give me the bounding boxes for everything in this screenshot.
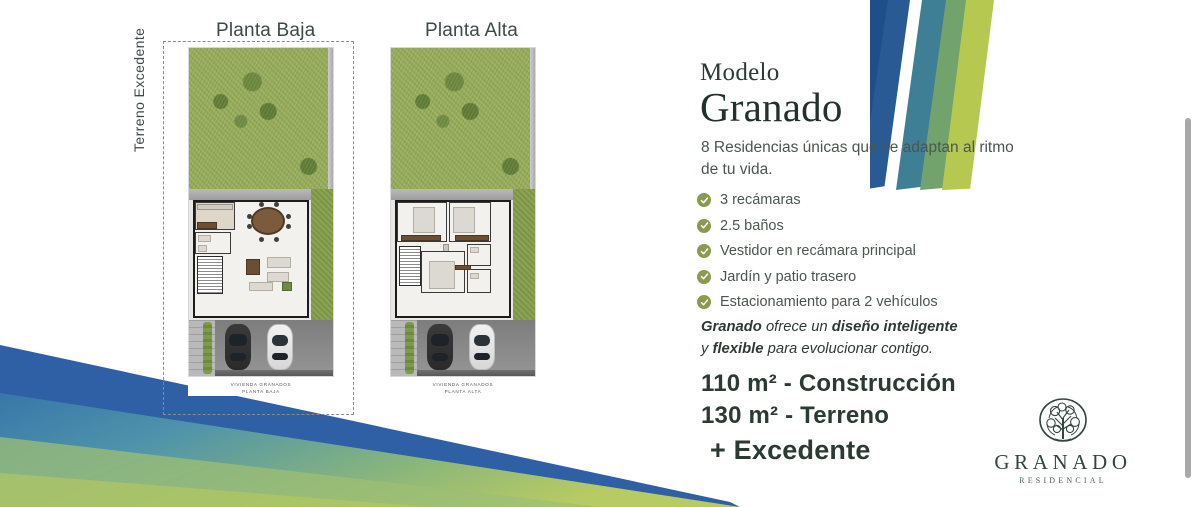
feature-item: 2.5 baños bbox=[697, 218, 938, 234]
garage-floor bbox=[417, 320, 535, 376]
tagline-text-b: y bbox=[701, 341, 713, 357]
car-dark bbox=[225, 324, 251, 370]
hedge-strip bbox=[405, 322, 414, 373]
dining-chair bbox=[286, 214, 291, 219]
garden-wall bbox=[530, 48, 535, 189]
closet-three bbox=[455, 235, 489, 241]
tagline-brand: Granado bbox=[701, 319, 762, 335]
dining-chair bbox=[247, 224, 252, 229]
check-circle-icon bbox=[697, 244, 711, 258]
ground-floor-interior bbox=[189, 189, 333, 320]
tagline-text-c: para evolucionar contigo. bbox=[764, 341, 933, 357]
garden-wall bbox=[328, 48, 333, 189]
staircase bbox=[197, 256, 223, 294]
scrollbar-thumb[interactable] bbox=[1185, 118, 1191, 478]
feature-label: Estacionamiento para 2 vehículos bbox=[720, 294, 938, 310]
car-white bbox=[267, 324, 293, 370]
dining-chair bbox=[274, 237, 279, 242]
car-dark bbox=[427, 324, 453, 370]
spec-excedente: + Excedente bbox=[701, 432, 956, 468]
caption-line-1: VIVIENDA GRANADOS bbox=[188, 382, 334, 389]
floor-plan-planta-baja[interactable]: VIVIENDA GRANADOS PLANTA BAJA bbox=[188, 47, 334, 396]
brand-logo: GRANADO RESIDENCIAL bbox=[963, 396, 1163, 485]
caption-line-2: PLANTA ALTA bbox=[390, 389, 536, 396]
feature-label: 3 recámaras bbox=[720, 192, 801, 208]
garden-area-baja bbox=[189, 48, 333, 189]
feature-item: 3 recámaras bbox=[697, 192, 938, 208]
tagline-emphasis-2: flexible bbox=[713, 341, 764, 357]
dining-chair bbox=[259, 237, 264, 242]
floor-plan-planta-alta[interactable]: VIVIENDA GRANADOS PLANTA ALTA bbox=[390, 47, 536, 396]
terreno-excedente-label: Terreno Excedente bbox=[131, 28, 147, 152]
feature-list: 3 recámaras 2.5 baños Vestidor en recáma… bbox=[697, 192, 938, 320]
car-rear-window bbox=[474, 353, 489, 361]
tree-in-circle-icon bbox=[1035, 396, 1091, 448]
planta-baja-render bbox=[188, 47, 334, 377]
plan-title-planta-baja: Planta Baja bbox=[216, 20, 315, 42]
dining-chair bbox=[247, 214, 252, 219]
caption-line-2: PLANTA BAJA bbox=[188, 389, 334, 396]
garage-area-baja bbox=[189, 320, 333, 376]
spec-terreno: 130 m² - Terreno bbox=[701, 400, 956, 432]
car-windshield bbox=[272, 335, 289, 346]
area-specs: 110 m² - Construcción 130 m² - Terreno +… bbox=[701, 368, 956, 468]
feature-label: 2.5 baños bbox=[720, 218, 784, 234]
check-circle-icon bbox=[697, 219, 711, 233]
caption-line-1: VIVIENDA GRANADOS bbox=[390, 382, 536, 389]
hedge-strip bbox=[203, 322, 212, 373]
planta-alta-render bbox=[390, 47, 536, 377]
toilet bbox=[198, 245, 207, 252]
sofa bbox=[267, 257, 291, 268]
armchair bbox=[246, 259, 260, 275]
garage-paving bbox=[391, 320, 417, 376]
car-rear-window bbox=[432, 353, 449, 361]
plan-title-planta-alta: Planta Alta bbox=[425, 20, 518, 42]
car-white bbox=[469, 324, 495, 370]
side-grass-strip bbox=[513, 189, 535, 320]
feature-item: Vestidor en recámara principal bbox=[697, 243, 938, 259]
garage-door bbox=[215, 370, 333, 376]
indoor-plant bbox=[282, 282, 292, 291]
dining-table bbox=[251, 207, 285, 235]
staircase-upper bbox=[399, 246, 421, 286]
kitchen-island bbox=[197, 222, 217, 229]
coffee-table bbox=[249, 282, 273, 291]
car-rear-window bbox=[230, 353, 247, 361]
garden-area-alta bbox=[391, 48, 535, 189]
tagline-emphasis: diseño inteligente bbox=[832, 319, 958, 335]
bath-sink-master bbox=[470, 273, 479, 279]
model-description: 8 Residencias únicas que se adaptan al r… bbox=[701, 137, 1021, 182]
bath-sink bbox=[470, 247, 479, 253]
logo-wordmark: GRANADO bbox=[963, 450, 1163, 475]
planta-alta-caption: VIVIENDA GRANADOS PLANTA ALTA bbox=[390, 382, 536, 396]
closet-two bbox=[401, 235, 441, 241]
dining-chair bbox=[286, 224, 291, 229]
spec-construccion: 110 m² - Construcción bbox=[701, 368, 956, 400]
car-windshield bbox=[229, 334, 247, 346]
upper-floor-interior bbox=[391, 189, 535, 320]
model-tagline: Granado ofrece un diseño inteligentey fl… bbox=[701, 316, 1031, 360]
planta-baja-caption: VIVIENDA GRANADOS PLANTA BAJA bbox=[188, 382, 334, 396]
kitchen-counter bbox=[197, 204, 233, 210]
garage-paving bbox=[189, 320, 215, 376]
model-name: Granado bbox=[700, 83, 843, 131]
logo-tagline: RESIDENCIAL bbox=[963, 476, 1163, 485]
check-circle-icon bbox=[697, 193, 711, 207]
car-windshield bbox=[474, 335, 491, 346]
car-windshield bbox=[431, 334, 449, 346]
feature-item: Jardín y patio trasero bbox=[697, 269, 938, 285]
side-grass-strip bbox=[311, 189, 333, 320]
car-rear-window bbox=[272, 353, 287, 361]
garage-door bbox=[417, 370, 535, 376]
check-circle-icon bbox=[697, 270, 711, 284]
feature-item: Estacionamiento para 2 vehículos bbox=[697, 294, 938, 310]
tagline-text-a: ofrece un bbox=[762, 319, 832, 335]
vestidor-closet bbox=[455, 265, 471, 270]
feature-label: Vestidor en recámara principal bbox=[720, 243, 916, 259]
floor-plans-section: Planta Baja Planta Alta Terreno Excedent… bbox=[0, 0, 690, 507]
dining-chair bbox=[274, 202, 279, 207]
sofa-secondary bbox=[267, 272, 289, 282]
bathroom-sink bbox=[198, 235, 211, 242]
bed-two bbox=[413, 207, 435, 233]
dining-chair bbox=[259, 202, 264, 207]
bed-three bbox=[453, 207, 475, 233]
master-bed bbox=[429, 261, 455, 289]
check-circle-icon bbox=[697, 295, 711, 309]
garage-area-alta bbox=[391, 320, 535, 376]
feature-label: Jardín y patio trasero bbox=[720, 269, 856, 285]
garage-floor bbox=[215, 320, 333, 376]
promo-page: Planta Baja Planta Alta Terreno Excedent… bbox=[0, 0, 1200, 507]
